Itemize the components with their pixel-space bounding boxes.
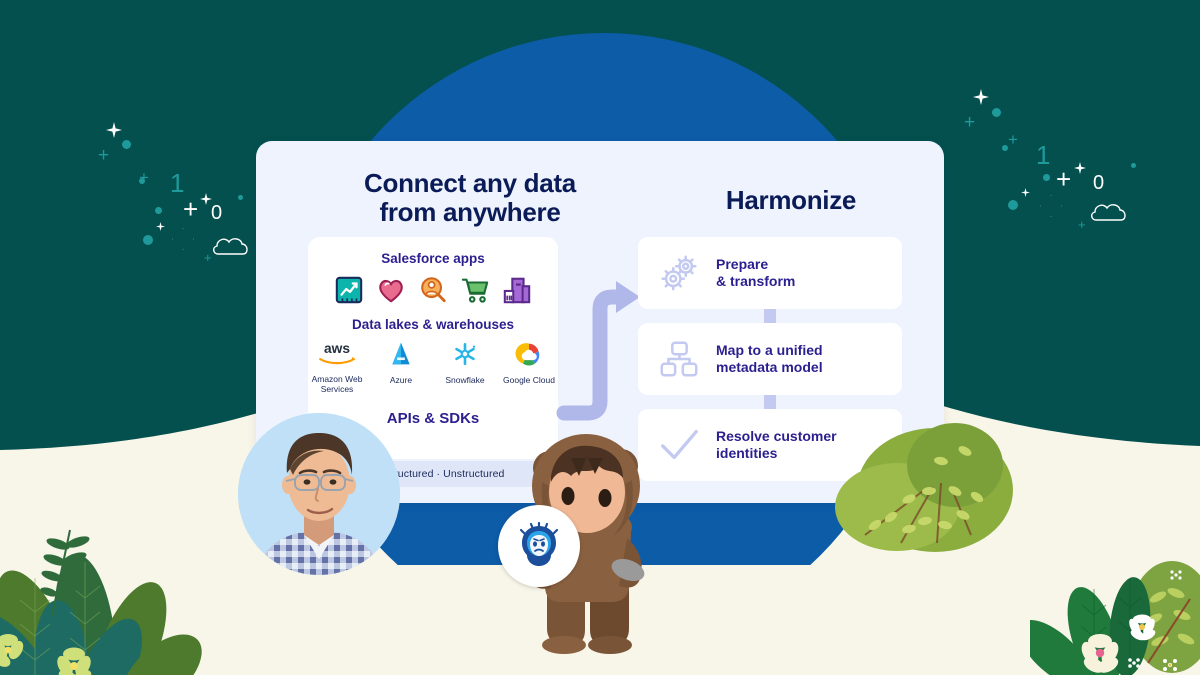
einstein-face-icon xyxy=(513,520,565,572)
step-map-text: Map to a unified metadata model xyxy=(716,342,823,377)
cloud-brand-logos: aws Amazon Web Services Azure xyxy=(308,340,558,394)
right-column-title: Harmonize xyxy=(656,185,926,216)
salesforce-app-icons xyxy=(308,275,558,305)
step-resolve-line-1: Resolve customer xyxy=(716,428,837,446)
step-card-map[interactable]: Map to a unified metadata model xyxy=(638,323,902,395)
step-map-line-2: metadata model xyxy=(716,359,823,377)
step-prepare-text: Prepare & transform xyxy=(716,256,795,291)
flow-arrow xyxy=(556,237,646,417)
step-resolve-line-2: identities xyxy=(716,445,837,463)
azure-logo-icon xyxy=(386,341,416,367)
brand-snowflake: Snowflake xyxy=(438,340,492,385)
left-title-line-2: from anywhere xyxy=(320,198,620,227)
heart-icon xyxy=(376,275,406,305)
step-card-resolve[interactable]: Resolve customer identities xyxy=(638,409,902,481)
presenter-avatar xyxy=(238,413,400,575)
step-connector-2 xyxy=(764,395,776,409)
google-cloud-logo-icon xyxy=(514,341,544,367)
brand-google-cloud: Google Cloud xyxy=(502,340,556,385)
slide-canvas: + + 1 + 0 + + + 1 + 0 + xyxy=(0,0,1200,675)
step-map-line-1: Map to a unified xyxy=(716,342,823,360)
einstein-badge xyxy=(498,505,580,587)
left-column-title: Connect any data from anywhere xyxy=(320,169,620,227)
shopping-cart-icon xyxy=(460,275,490,305)
hierarchy-icon xyxy=(656,336,702,382)
brand-azure-label: Azure xyxy=(374,375,428,385)
left-title-line-1: Connect any data xyxy=(320,169,620,198)
snowflake-logo-icon xyxy=(451,341,479,367)
step-card-prepare[interactable]: Prepare & transform xyxy=(638,237,902,309)
brand-aws-label: Amazon Web Services xyxy=(310,374,364,394)
step-resolve-text: Resolve customer identities xyxy=(716,428,837,463)
salesforce-apps-heading: Salesforce apps xyxy=(308,251,558,266)
data-lakes-heading: Data lakes & warehouses xyxy=(308,317,558,332)
svg-text:aws: aws xyxy=(324,341,350,356)
industries-building-icon xyxy=(502,275,532,305)
brand-google-cloud-label: Google Cloud xyxy=(502,375,556,385)
analytics-chart-icon xyxy=(334,275,364,305)
aws-logo-icon: aws xyxy=(312,340,362,366)
brand-snowflake-label: Snowflake xyxy=(438,375,492,385)
step-prepare-line-1: Prepare xyxy=(716,256,795,274)
step-prepare-line-2: & transform xyxy=(716,273,795,291)
brand-azure: Azure xyxy=(374,340,428,385)
step-connector-1 xyxy=(764,309,776,323)
brand-aws: aws Amazon Web Services xyxy=(310,340,364,394)
person-search-icon xyxy=(418,275,448,305)
gears-icon xyxy=(656,250,702,296)
